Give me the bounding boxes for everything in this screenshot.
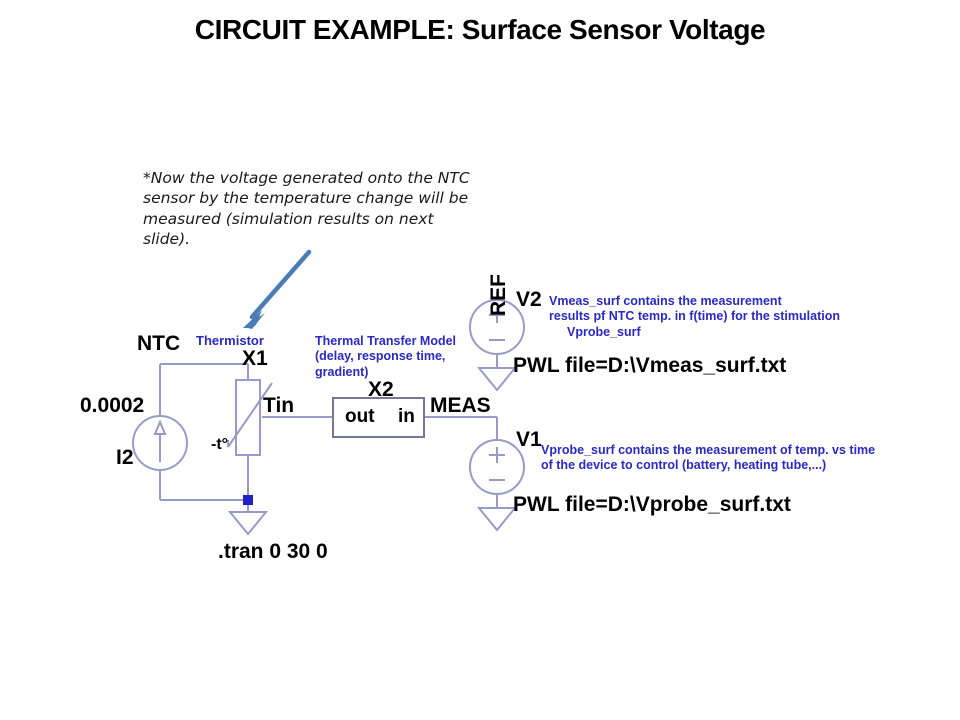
current-source-value: 0.0002 [80,394,144,418]
voltage-source-v1-note: Vprobe_surf contains the measurement of … [541,443,875,474]
slide-canvas: CIRCUIT EXAMPLE: Surface Sensor Voltage … [0,0,960,720]
block-x2-caption: Thermal Transfer Model (delay, response … [315,334,456,380]
callout-arrow-icon [243,252,309,329]
v2-note-line1: Vmeas_surf contains the measurement [549,294,840,309]
voltage-source-v1-spice-line: PWL file=D:\Vprobe_surf.txt [513,493,791,517]
ground-v2-symbol [479,368,515,390]
v1-note-line1: Vprobe_surf contains the measurement of … [541,443,875,458]
component-label-x2: X2 [368,378,394,402]
thermistor-caption: Thermistor [196,333,264,348]
net-label-ref: REF [487,274,511,316]
voltage-source-v2-note: Vmeas_surf contains the measurement resu… [549,294,840,340]
block-x2-port-in: in [398,406,415,428]
voltage-source-label-v2: V2 [516,288,542,312]
spice-directive-tran: .tran 0 30 0 [218,540,328,564]
component-label-x1: X1 [242,347,268,371]
v2-note-line3: Vprobe_surf [549,325,840,340]
voltage-source-v2-spice-line: PWL file=D:\Vmeas_surf.txt [513,354,786,378]
v1-note-line2: of the device to control (battery, heati… [541,458,875,473]
v2-note-line2: results pf NTC temp. in f(time) for the … [549,309,840,324]
circuit-schematic [0,0,960,720]
net-label-meas: MEAS [430,394,491,418]
voltage-source-label-v1: V1 [516,428,542,452]
net-label-tin: Tin [263,394,294,418]
thermistor-symbol-label: -t° [211,436,228,454]
current-source-label-i2: I2 [116,446,134,470]
block-x2-caption-line1: Thermal Transfer Model [315,334,456,349]
ground-v1-symbol [479,508,515,530]
block-x2-port-out: out [345,406,375,428]
block-x2-caption-line2: (delay, response time, [315,349,456,364]
net-label-ntc: NTC [137,332,180,356]
current-source-i2-symbol [133,416,187,470]
